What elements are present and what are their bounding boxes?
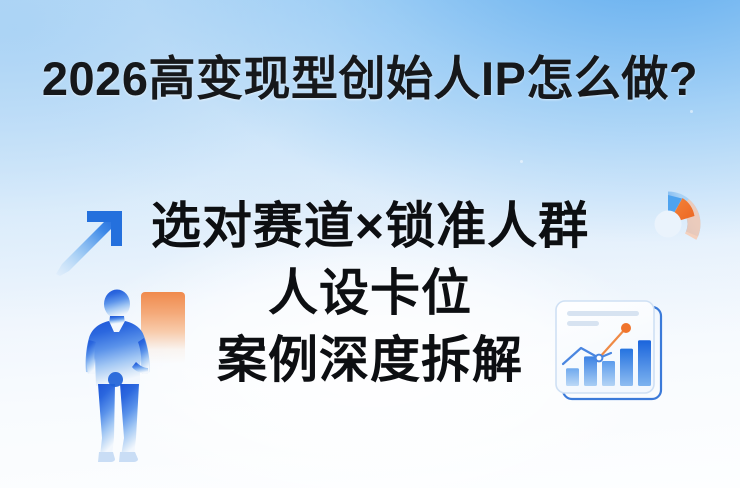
page-title: 2026高变现型创始人IP怎么做?	[0, 54, 740, 103]
blue-dot-accent	[108, 372, 123, 387]
bar-line-chart-card-icon	[552, 296, 668, 406]
headline-line-1: 选对赛道×锁准人群	[0, 196, 740, 257]
decorative-speck	[690, 110, 693, 113]
decorative-speck	[520, 160, 523, 163]
poster-canvas: 2026高变现型创始人IP怎么做?	[0, 0, 740, 488]
